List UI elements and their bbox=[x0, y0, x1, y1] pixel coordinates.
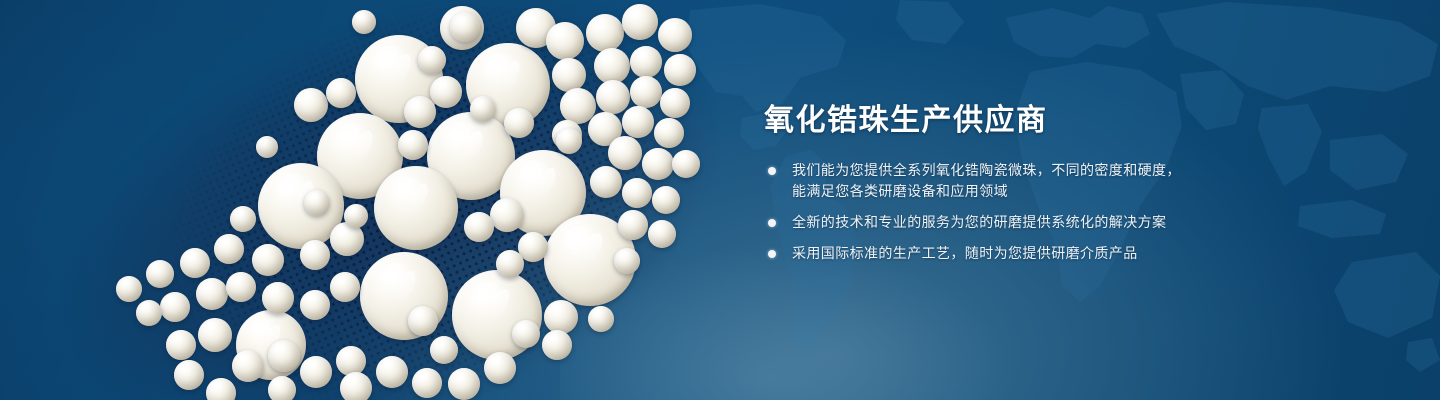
page-title: 氧化锆珠生产供应商 bbox=[764, 104, 1324, 138]
dot-bullet-icon bbox=[768, 219, 776, 227]
list-item: 我们能为您提供全系列氧化锆陶瓷微珠，不同的密度和硬度， 能满足您各类研磨设备和应… bbox=[764, 160, 1324, 202]
list-item: 采用国际标准的生产工艺，随时为您提供研磨介质产品 bbox=[764, 243, 1324, 264]
feature-bullet-list: 我们能为您提供全系列氧化锆陶瓷微珠，不同的密度和硬度， 能满足您各类研磨设备和应… bbox=[764, 160, 1324, 264]
banner-copy-block: 氧化锆珠生产供应商 我们能为您提供全系列氧化锆陶瓷微珠，不同的密度和硬度， 能满… bbox=[764, 104, 1324, 264]
list-item: 全新的技术和专业的服务为您的研磨提供系统化的解决方案 bbox=[764, 212, 1324, 233]
bullet-text-line: 我们能为您提供全系列氧化锆陶瓷微珠，不同的密度和硬度， bbox=[792, 160, 1324, 181]
bullet-text-line: 全新的技术和专业的服务为您的研磨提供系统化的解决方案 bbox=[792, 212, 1324, 233]
dot-bullet-icon bbox=[768, 250, 776, 258]
dot-bullet-icon bbox=[768, 167, 776, 175]
bullet-text-line: 采用国际标准的生产工艺，随时为您提供研磨介质产品 bbox=[792, 243, 1324, 264]
bullet-text-line: 能满足您各类研磨设备和应用领域 bbox=[792, 181, 1324, 202]
hero-banner: 氧化锆珠生产供应商 我们能为您提供全系列氧化锆陶瓷微珠，不同的密度和硬度， 能满… bbox=[0, 0, 1440, 400]
